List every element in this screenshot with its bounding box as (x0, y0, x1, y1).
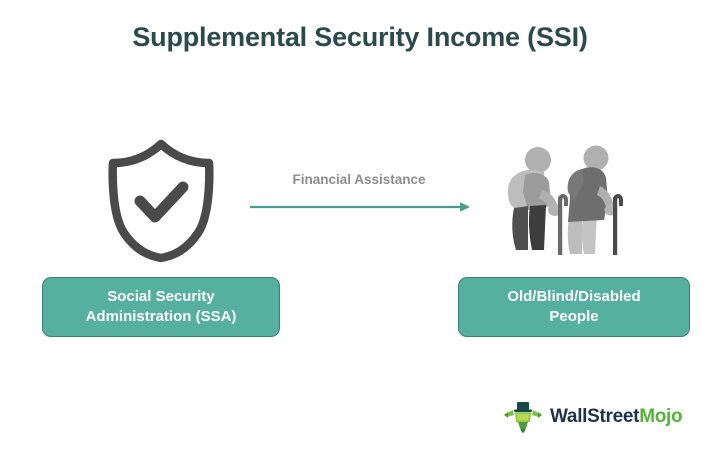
logo-text-accent: Mojo (639, 406, 682, 427)
node-social-security-administration[interactable]: Social Security Administration (SSA) (42, 277, 280, 337)
wallstreetmojo-logo[interactable]: WallStreetMojo (503, 400, 682, 434)
logo-text-primary: WallStreet (550, 406, 639, 427)
connector-label: Financial Assistance (248, 172, 470, 187)
financial-assistance-connector: Financial Assistance (248, 172, 470, 212)
node-label-line-1: Old/Blind/Disabled (507, 287, 640, 307)
diagram-canvas: Supplemental Security Income (SSI) Finan… (0, 0, 720, 453)
node-label-line-1: Social Security (86, 287, 237, 307)
arrow-right-icon (250, 201, 472, 213)
wallstreetmojo-mascot-icon (503, 401, 543, 433)
node-label-line-2: People (507, 307, 640, 327)
node-label-line-2: Administration (SSA) (86, 307, 237, 327)
shield-check-icon (100, 138, 222, 264)
elderly-people-with-canes-icon (494, 142, 628, 264)
page-title: Supplemental Security Income (SSI) (0, 22, 720, 53)
logo-wordmark: WallStreetMojo (550, 406, 682, 428)
node-old-blind-disabled-people[interactable]: Old/Blind/Disabled People (458, 277, 690, 337)
